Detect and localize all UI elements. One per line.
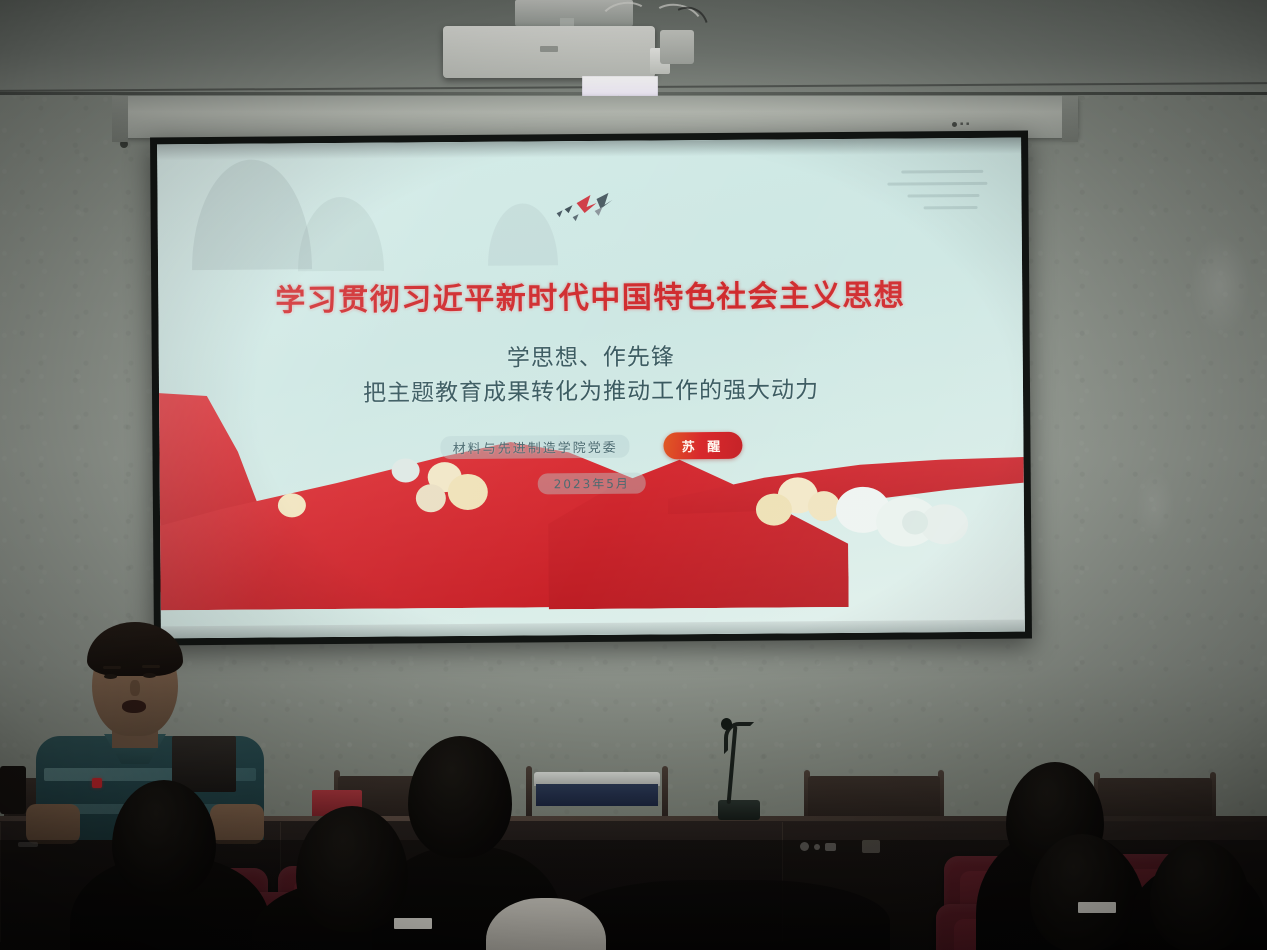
ghost-line-ornament-icon	[877, 164, 997, 211]
screen-housing-cap-right	[1062, 96, 1078, 142]
subtitle-line-1: 学思想、作先锋	[159, 339, 1023, 378]
projector-body	[443, 26, 655, 78]
lecture-hall-photo: ▪ ▪	[0, 0, 1267, 950]
slide-meta: 材料与先进制造学院党委 苏 醒 2023年5月	[159, 430, 1023, 498]
presenter-brow	[142, 665, 160, 668]
slide-date: 2023年5月	[538, 473, 646, 495]
chair-blue-cushion	[536, 784, 658, 806]
subtitle-line-2: 把主题教育成果转化为推动工作的强大动力	[159, 372, 1023, 411]
seat-number-plate	[1078, 902, 1116, 913]
presenter-hair	[87, 622, 183, 676]
screen-housing-label: ▪ ▪	[952, 118, 994, 130]
slide-subtitle: 学思想、作先锋 把主题教育成果转化为推动工作的强大动力	[159, 338, 1024, 413]
slide-organization: 材料与先进制造学院党委	[441, 435, 630, 459]
presenter-brow	[103, 666, 121, 669]
wall-stain	[1135, 470, 1175, 540]
presenter-eye	[143, 673, 156, 678]
slide-title: 学习贯彻习近平新时代中国特色社会主义思想	[158, 270, 1022, 321]
microphone-head-icon	[721, 718, 732, 730]
presenter-nose	[130, 680, 140, 696]
slide-bottom-edge	[161, 620, 1025, 639]
presenter-name-badge: 苏 醒	[664, 432, 743, 460]
presenter-arm-left	[26, 804, 80, 844]
ghost-mountain-icon	[191, 159, 312, 270]
wall-stain	[1190, 235, 1250, 335]
projector-vent	[540, 46, 558, 52]
chair-post	[662, 766, 668, 822]
chair-with-blue-cushion	[522, 766, 672, 822]
chair-post	[526, 766, 532, 822]
chair-back-right	[1090, 772, 1220, 822]
slide-top-shadow	[157, 138, 1021, 161]
presentation-slide: 学习贯彻习近平新时代中国特色社会主义思想 学思想、作先锋 把主题教育成果转化为推…	[157, 138, 1025, 639]
presenter-mouth	[122, 700, 146, 713]
projection-screen: 学习贯彻习近平新时代中国特色社会主义思想 学思想、作先锋 把主题教育成果转化为推…	[150, 131, 1032, 646]
red-party-pin-icon	[92, 778, 102, 788]
gold-cloud-shape	[278, 493, 306, 517]
gold-cloud-shape	[756, 493, 792, 525]
presenter-eye	[104, 674, 117, 679]
audience-foreground-mass	[560, 880, 890, 950]
podium-dark-object	[0, 766, 26, 814]
meta-row: 材料与先进制造学院党委 苏 醒	[159, 430, 1023, 464]
presenter-arm-right	[210, 804, 264, 844]
screen-surface: 学习贯彻习近平新时代中国特色社会主义思想 学思想、作先锋 把主题教育成果转化为推…	[157, 138, 1025, 639]
ghost-mountain-icon	[297, 197, 384, 272]
screen-housing-cap-left	[112, 96, 128, 142]
microphone-base	[718, 800, 760, 820]
housing-indicator-dot	[952, 122, 957, 127]
chair-back-center	[800, 770, 948, 822]
seat-number-plate	[394, 918, 432, 929]
flying-birds-icon	[534, 187, 644, 228]
white-cloud-ring	[902, 510, 928, 534]
projector-side-block	[660, 30, 694, 64]
housing-label-text: ▪ ▪	[960, 121, 970, 127]
